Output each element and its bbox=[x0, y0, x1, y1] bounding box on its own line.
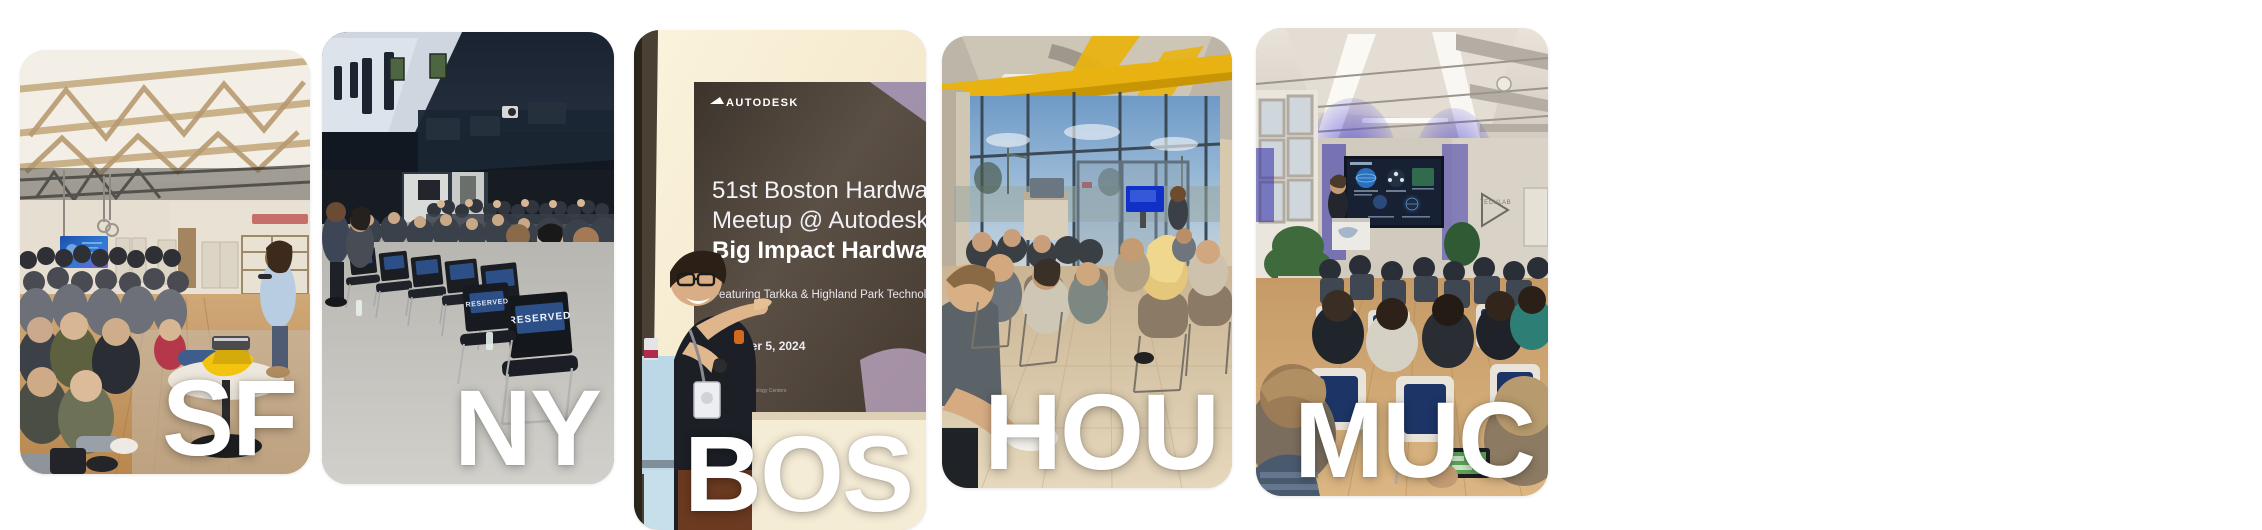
slide-title-line-2: Meetup @ Autodesk bbox=[712, 207, 926, 234]
event-card-hou[interactable]: HOU bbox=[942, 36, 1232, 488]
event-card-sf[interactable]: SF bbox=[20, 50, 310, 474]
event-card-bos[interactable]: AUTODESK 51st Boston Hardware Meetup @ A… bbox=[634, 30, 926, 530]
photo-muc: TECHLAB bbox=[1256, 28, 1548, 496]
photo-bos: AUTODESK 51st Boston Hardware Meetup @ A… bbox=[634, 30, 926, 530]
slide-title-line-1: 51st Boston Hardware bbox=[712, 177, 926, 204]
event-photo-gallery: SF bbox=[0, 0, 2262, 520]
photo-hou bbox=[942, 36, 1232, 488]
event-card-muc[interactable]: TECHLAB bbox=[1256, 28, 1548, 496]
slide-featuring: Featuring Tarkka & Highland Park Technol… bbox=[712, 289, 926, 301]
svg-text:TECHLAB: TECHLAB bbox=[1480, 200, 1511, 206]
photo-sf bbox=[20, 50, 310, 474]
slide-subtitle: Big Impact Hardware bbox=[712, 237, 926, 264]
slide-logo-text: AUTODESK bbox=[726, 97, 799, 109]
photo-ny: RESERVED RESERVED bbox=[322, 32, 614, 484]
event-card-ny[interactable]: RESERVED RESERVED bbox=[322, 32, 614, 484]
